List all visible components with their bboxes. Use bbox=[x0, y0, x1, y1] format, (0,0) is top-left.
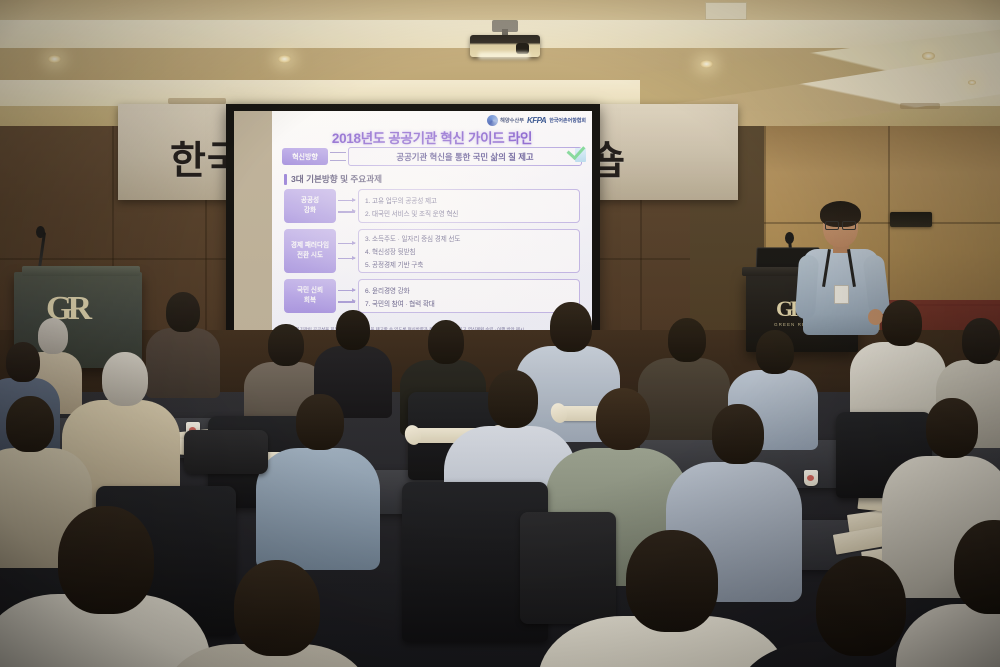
strategy-row: 공공성 강화 1. 고유 업무의 공공성 제고 2. 대국민 서비스 및 조직 … bbox=[284, 189, 580, 223]
attendee-head bbox=[926, 398, 978, 458]
section-accent-bar bbox=[284, 174, 287, 185]
header-connector bbox=[328, 148, 348, 165]
strategy-row-tag: 경제 패러다임 전환 시도 bbox=[284, 229, 336, 273]
strategy-row-arrows bbox=[336, 189, 358, 223]
slide-section-title: 3대 기본방향 및 주요과제 bbox=[291, 173, 382, 185]
strategy-tag-line1: 국민 신뢰 bbox=[297, 286, 323, 296]
downlight-icon bbox=[968, 80, 976, 85]
attendee-head bbox=[816, 556, 906, 656]
attendee-head bbox=[596, 388, 650, 450]
checkmark-icon bbox=[568, 143, 588, 165]
attendee-head bbox=[6, 342, 40, 382]
projector-light-glow bbox=[478, 52, 530, 59]
ceiling-access-panel bbox=[705, 2, 747, 20]
strategy-tag-line1: 경제 패러다임 bbox=[291, 241, 329, 251]
ministry-swirl-icon bbox=[487, 115, 498, 126]
attendee-torso bbox=[146, 328, 220, 398]
attendee-head bbox=[268, 324, 304, 366]
slide-section-title-wrap: 3대 기본방향 및 주요과제 bbox=[284, 173, 382, 185]
slide-title: 2018년도 공공기관 혁신 가이드 라인 bbox=[272, 127, 592, 147]
strategy-row-arrows bbox=[336, 279, 358, 313]
attendee-head bbox=[550, 302, 592, 352]
strategy-item: 1. 고유 업무의 공공성 제고 bbox=[365, 195, 573, 205]
strategy-item: 6. 윤리경영 강화 bbox=[365, 285, 573, 295]
strategy-tag-line1: 공공성 bbox=[301, 196, 319, 206]
downlight-icon bbox=[922, 52, 935, 60]
downlight-icon bbox=[700, 60, 713, 68]
kfpa-logo-text: KFPA bbox=[527, 116, 546, 125]
presenter-hand bbox=[868, 309, 883, 325]
attendee-head bbox=[712, 404, 764, 464]
presenter-lanyard bbox=[825, 249, 853, 291]
attendee-head bbox=[336, 310, 370, 350]
projection-screen: 해양수산부 KFPA 한국어촌어항협회 2018년도 공공기관 혁신 가이드 라… bbox=[226, 104, 600, 347]
ministry-logo-text: 해양수산부 bbox=[500, 117, 524, 124]
attendee-head bbox=[6, 396, 54, 452]
attendee-head bbox=[234, 560, 320, 656]
attendee-head bbox=[668, 318, 706, 362]
attendee-head bbox=[756, 330, 794, 374]
attendee-head bbox=[296, 394, 344, 450]
strategy-row-tag: 국민 신뢰 회복 bbox=[284, 279, 336, 313]
strategy-tag-line2: 전환 시도 bbox=[297, 251, 323, 261]
presenter bbox=[795, 205, 885, 365]
attendee-head bbox=[428, 320, 464, 364]
strategy-item: 2. 대국민 서비스 및 조직 운영 혁신 bbox=[365, 208, 573, 218]
header-tag-label: 혁신방향 bbox=[282, 148, 328, 165]
downlight-icon bbox=[48, 55, 61, 63]
attendee-head bbox=[626, 530, 718, 632]
glasses-icon bbox=[825, 221, 856, 228]
wall-speaker-icon bbox=[890, 212, 932, 227]
attendee-head bbox=[58, 506, 154, 614]
lectern-left-top bbox=[22, 266, 140, 276]
attendee-head bbox=[166, 292, 200, 332]
strategy-item: 3. 소득주도 · 일자리 중심 경제 선도 bbox=[365, 233, 573, 243]
strategy-tag-line2: 회복 bbox=[304, 296, 316, 306]
ceiling-vent bbox=[900, 103, 940, 109]
laptop-bag bbox=[184, 430, 268, 474]
strategy-row: 경제 패러다임 전환 시도 3. 소득주도 · 일자리 중심 경제 선도 4. … bbox=[284, 229, 580, 273]
conference-room-photo: 한국 크숍 해양수산부 KFPA 한국어촌어항협회 2018년도 공공기관 혁신… bbox=[0, 0, 1000, 667]
attendee-head bbox=[882, 300, 922, 346]
strategy-row-items: 6. 윤리경영 강화 7. 국민의 참여 · 협력 확대 bbox=[358, 279, 580, 313]
backpack bbox=[520, 512, 616, 624]
screen-unlit-margin bbox=[234, 111, 272, 340]
presentation-slide: 해양수산부 KFPA 한국어촌어항협회 2018년도 공공기관 혁신 가이드 라… bbox=[272, 111, 592, 340]
strategy-row: 국민 신뢰 회복 6. 윤리경영 강화 7. 국민의 참여 · 협력 확대 bbox=[284, 279, 580, 313]
strategy-row-arrows bbox=[336, 229, 358, 273]
strategy-row-items: 1. 고유 업무의 공공성 제고 2. 대국민 서비스 및 조직 운영 혁신 bbox=[358, 189, 580, 223]
name-badge-icon bbox=[834, 285, 849, 304]
screen-surface: 해양수산부 KFPA 한국어촌어항협회 2018년도 공공기관 혁신 가이드 라… bbox=[234, 111, 592, 340]
attendee-head bbox=[962, 318, 1000, 364]
strategy-item: 4. 혁신성장 뒷받침 bbox=[365, 246, 573, 256]
attendee-head bbox=[38, 318, 68, 354]
ministry-logo: 해양수산부 bbox=[487, 115, 524, 126]
strategy-row-tag: 공공성 강화 bbox=[284, 189, 336, 223]
strategy-item: 7. 국민의 참여 · 협력 확대 bbox=[365, 298, 573, 308]
kfpa-logo-fullname: 한국어촌어항협회 bbox=[549, 117, 586, 124]
ceiling-band-1 bbox=[0, 0, 1000, 20]
strategy-tag-line2: 강화 bbox=[304, 206, 316, 216]
downlight-icon bbox=[278, 55, 291, 63]
attendee-head bbox=[102, 352, 148, 406]
strategy-row-items: 3. 소득주도 · 일자리 중심 경제 선도 4. 혁신성장 뒷받침 5. 공정… bbox=[358, 229, 580, 273]
paper-cup bbox=[804, 470, 818, 486]
slide-logo-row: 해양수산부 KFPA 한국어촌어항협회 bbox=[487, 115, 586, 126]
attendee-head bbox=[488, 370, 538, 428]
ceiling-projector-icon bbox=[470, 20, 540, 58]
slide-header-row: 혁신방향 공공기관 혁신을 통한 국민 삶의 질 제고 bbox=[282, 147, 582, 166]
header-statement: 공공기관 혁신을 통한 국민 삶의 질 제고 bbox=[348, 147, 582, 166]
strategy-item: 5. 공정경제 기반 구축 bbox=[365, 259, 573, 269]
attendee-torso bbox=[256, 448, 380, 570]
